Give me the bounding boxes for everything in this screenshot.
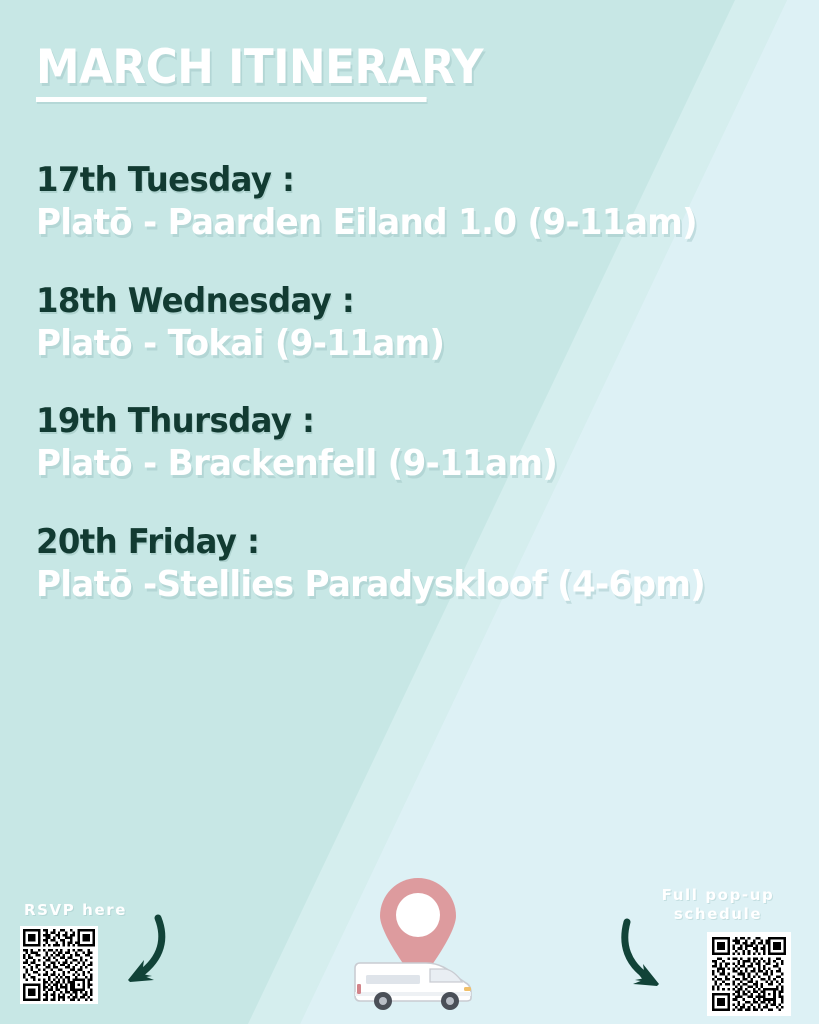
entry-day-label: 17th Tuesday : — [36, 160, 761, 200]
entry-day-label: 19th Thursday : — [36, 401, 761, 441]
poster-content: MARCH ITINERARY 17th Tuesday : Platō - P… — [0, 0, 819, 1024]
rsvp-qr-row — [20, 926, 180, 1010]
list-item: 17th Tuesday : Platō - Paarden Eiland 1.… — [36, 160, 799, 245]
page-title: MARCH ITINERARY — [36, 44, 483, 91]
itinerary-list: 17th Tuesday : Platō - Paarden Eiland 1.… — [36, 160, 799, 642]
entry-detail-label: Platō -Stellies Paradyskloof (4-6pm) — [36, 564, 761, 606]
schedule-label-line2: schedule — [643, 905, 793, 924]
entry-detail-label: Platō - Paarden Eiland 1.0 (9-11am) — [36, 202, 761, 244]
title-underline-rule — [36, 97, 427, 102]
schedule-qr-code[interactable] — [707, 932, 791, 1016]
list-item: 20th Friday : Platō -Stellies Paradysklo… — [36, 522, 799, 607]
rsvp-qr-code[interactable] — [20, 926, 98, 1004]
curved-arrow-down-right-icon — [613, 912, 673, 1005]
march-itinerary-poster: MARCH ITINERARY 17th Tuesday : Platō - P… — [0, 0, 819, 1024]
delivery-van-icon — [352, 951, 474, 1016]
location-graphic — [352, 876, 482, 1016]
rsvp-block: RSVP here — [20, 901, 180, 1010]
entry-detail-label: Platō - Tokai (9-11am) — [36, 323, 761, 365]
list-item: 19th Thursday : Platō - Brackenfell (9-1… — [36, 401, 799, 486]
entry-day-label: 18th Wednesday : — [36, 281, 761, 321]
curved-arrow-down-left-icon — [114, 908, 174, 1003]
schedule-qr-row — [619, 928, 799, 1012]
schedule-label-line1: Full pop-up — [643, 886, 793, 905]
entry-detail-label: Platō - Brackenfell (9-11am) — [36, 443, 761, 485]
entry-day-label: 20th Friday : — [36, 522, 761, 562]
page-title-block: MARCH ITINERARY — [36, 44, 517, 102]
rsvp-label: RSVP here — [24, 901, 180, 920]
schedule-label: Full pop-up schedule — [643, 886, 793, 924]
schedule-block: Full pop-up schedule — [619, 886, 799, 1012]
list-item: 18th Wednesday : Platō - Tokai (9-11am) — [36, 281, 799, 366]
